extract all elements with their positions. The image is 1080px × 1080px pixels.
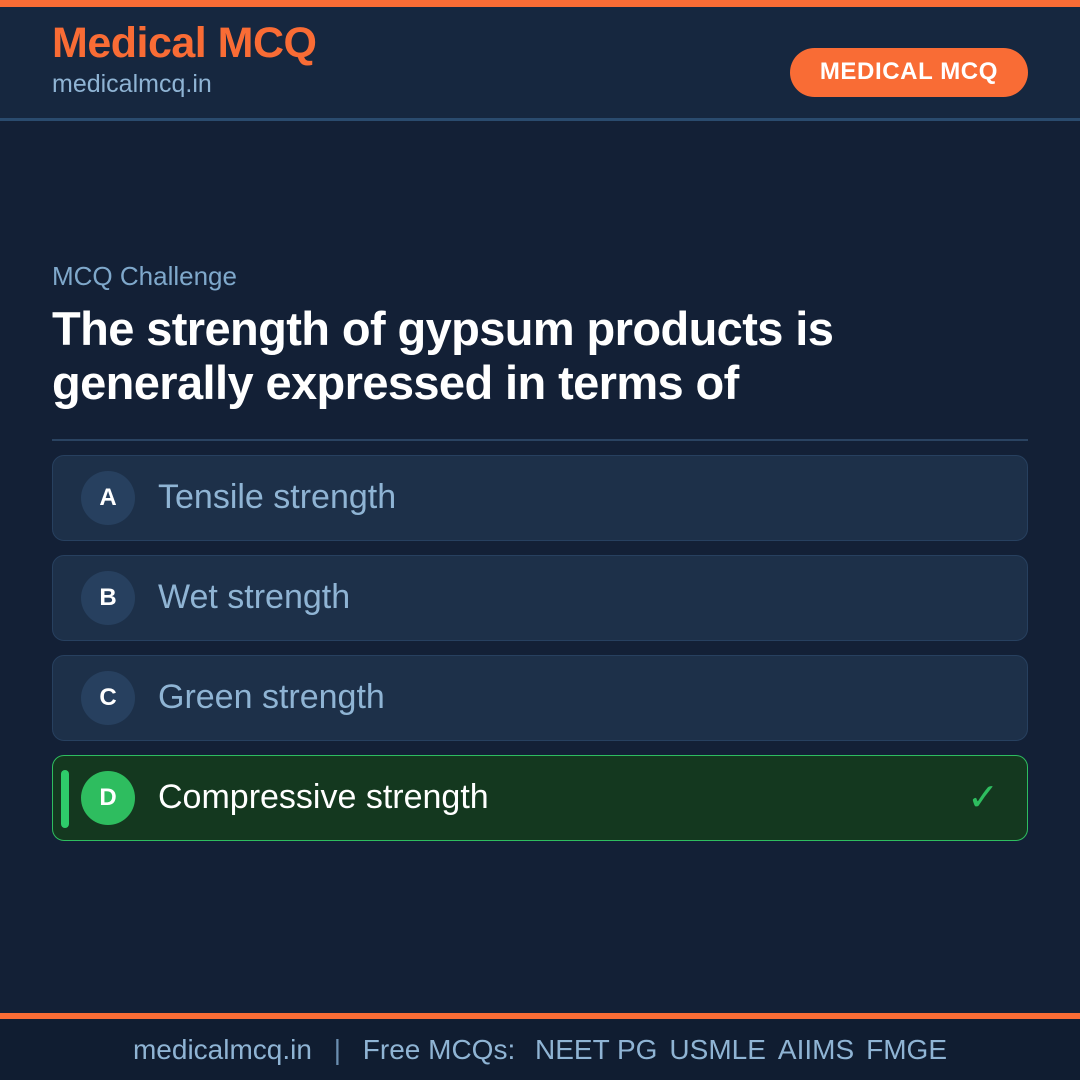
top-accent-bar bbox=[0, 0, 1080, 7]
option-label: Tensile strength bbox=[158, 479, 396, 516]
option-letter-badge: B bbox=[81, 571, 135, 625]
option-letter-badge: D bbox=[81, 771, 135, 825]
correct-accent-bar bbox=[61, 770, 69, 828]
footer-exams: NEET PGUSMLEAIIMSFMGE bbox=[523, 1034, 947, 1065]
option-c[interactable]: CGreen strength bbox=[52, 655, 1028, 741]
brand: Medical MCQ medicalmcq.in bbox=[52, 21, 317, 100]
checkmark-icon: ✓ bbox=[967, 779, 999, 817]
footer-text: medicalmcq.in | Free MCQs: NEET PGUSMLEA… bbox=[133, 1034, 947, 1066]
option-label: Green strength bbox=[158, 679, 385, 716]
footer-exam-item[interactable]: NEET PG bbox=[535, 1034, 657, 1065]
option-letter-badge: A bbox=[81, 471, 135, 525]
brand-title: Medical MCQ bbox=[52, 21, 317, 66]
option-label: Compressive strength bbox=[158, 779, 489, 816]
option-a[interactable]: ATensile strength bbox=[52, 455, 1028, 541]
divider bbox=[52, 439, 1028, 441]
footer-separator: | bbox=[320, 1034, 355, 1065]
option-letter-badge: C bbox=[81, 671, 135, 725]
page-title: The strength of gypsum products is gener… bbox=[52, 302, 1028, 411]
footer-exam-item[interactable]: AIIMS bbox=[778, 1034, 854, 1065]
eyebrow-label: MCQ Challenge bbox=[52, 262, 1028, 291]
options-list: ATensile strengthBWet strengthCGreen str… bbox=[52, 455, 1028, 841]
footer-site[interactable]: medicalmcq.in bbox=[133, 1034, 312, 1065]
brand-subtitle: medicalmcq.in bbox=[52, 69, 317, 100]
page-footer: medicalmcq.in | Free MCQs: NEET PGUSMLEA… bbox=[0, 1013, 1080, 1080]
footer-exams-label: Free MCQs: bbox=[363, 1034, 515, 1065]
status-badge: MEDICAL MCQ bbox=[790, 48, 1028, 97]
option-b[interactable]: BWet strength bbox=[52, 555, 1028, 641]
option-d[interactable]: DCompressive strength✓ bbox=[52, 755, 1028, 841]
question-card: MCQ Challenge The strength of gypsum pro… bbox=[52, 262, 1028, 855]
option-label: Wet strength bbox=[158, 579, 350, 616]
footer-exam-item[interactable]: FMGE bbox=[866, 1034, 947, 1065]
page-header: Medical MCQ medicalmcq.in MEDICAL MCQ bbox=[0, 7, 1080, 121]
footer-exam-item[interactable]: USMLE bbox=[669, 1034, 765, 1065]
